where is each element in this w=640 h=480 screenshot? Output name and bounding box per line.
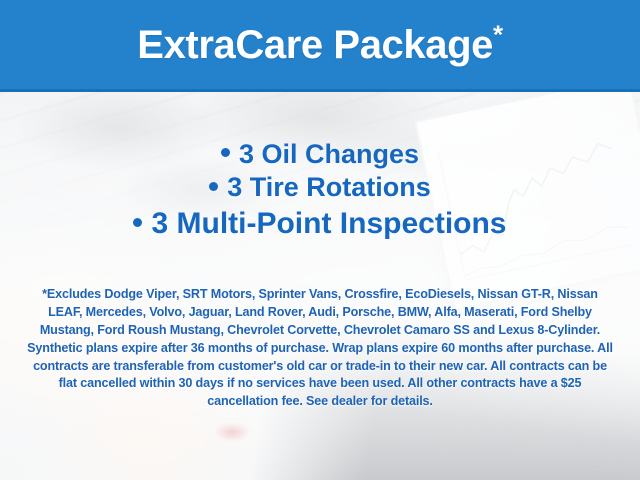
list-item: 3 Tire Rotations — [0, 171, 640, 204]
bullet-dot-icon — [221, 148, 230, 157]
header-banner: ExtraCare Package* — [0, 0, 640, 92]
feature-list: 3 Oil Changes 3 Tire Rotations 3 Multi-P… — [0, 138, 640, 242]
page-title: ExtraCare Package* — [137, 25, 502, 65]
disclaimer-text: *Excludes Dodge Viper, SRT Motors, Sprin… — [26, 286, 614, 411]
page-title-asterisk: * — [493, 19, 503, 49]
bullet-dot-icon — [209, 182, 218, 191]
page-title-text: ExtraCare Package — [137, 23, 493, 67]
extracare-package-ad: ExtraCare Package* 3 Oil Changes 3 Tire … — [0, 0, 640, 480]
feature-label: 3 Tire Rotations — [227, 172, 431, 202]
list-item: 3 Multi-Point Inspections — [0, 205, 640, 242]
feature-label: 3 Oil Changes — [239, 139, 419, 169]
feature-label: 3 Multi-Point Inspections — [151, 207, 506, 240]
bullet-dot-icon — [133, 218, 142, 227]
list-item: 3 Oil Changes — [0, 138, 640, 171]
